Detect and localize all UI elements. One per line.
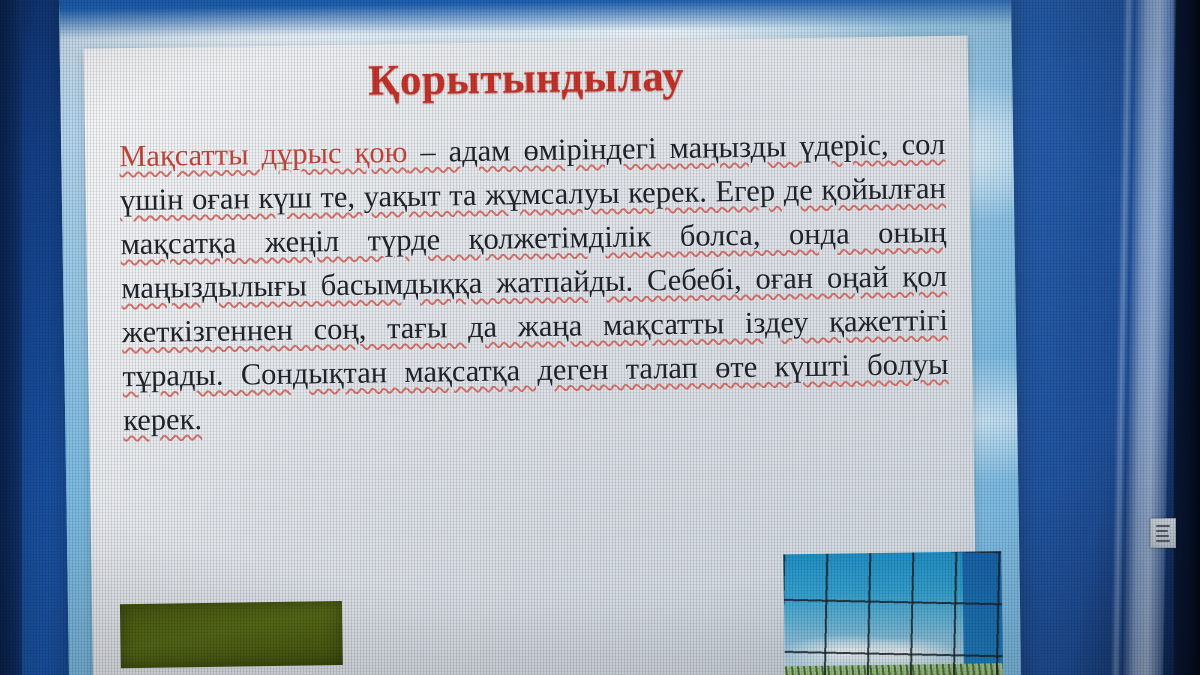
screenshot-root: Қорытындылау Мақсатты дұрыс қою – адам ө… (0, 0, 1200, 675)
slide-content-panel: Қорытындылау Мақсатты дұрыс қою – адам ө… (84, 36, 977, 675)
green-placeholder-box (120, 601, 343, 668)
body-lead-phrase: Мақсатты дұрыс қою (119, 135, 408, 173)
list-icon[interactable] (1150, 518, 1176, 548)
sky-grass-photo (783, 551, 1003, 675)
wall-left-dark-edge (0, 0, 22, 675)
photo-window-grid (783, 551, 1003, 675)
body-rest-text: – адам өміріндегі маңызды үдеріс, сол үш… (120, 127, 949, 437)
slide-title: Қорытындылау (84, 48, 969, 110)
slide-body-text: Мақсатты дұрыс қою – адам өміріндегі маң… (119, 122, 949, 442)
wall-right-dark-edge (1174, 0, 1200, 675)
presentation-slide: Қорытындылау Мақсатты дұрыс қою – адам ө… (59, 0, 1022, 675)
